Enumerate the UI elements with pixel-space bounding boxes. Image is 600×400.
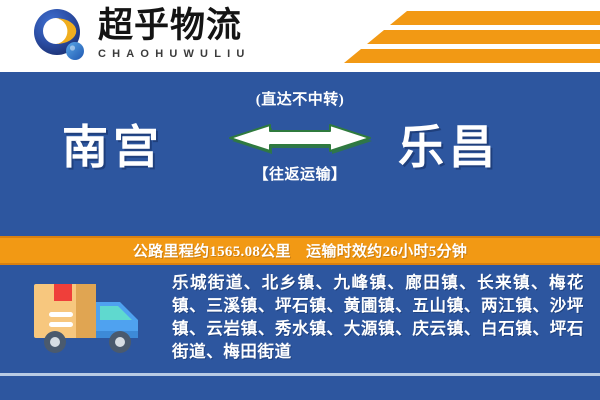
stripe-2 [367,30,600,44]
brand-name-cn: 超乎物流 [98,6,308,46]
distance-and-duration-text: 公路里程约1565.08公里 运输时效约26小时5分钟 [133,240,467,261]
company-logo-icon [32,8,90,66]
route-info-bar: 公路里程约1565.08公里 运输时效约26小时5分钟 [0,236,600,265]
route-middle: (直达不中转) 【往返运输】 [225,90,375,185]
brand-name-en: CHAOHUWULIU [98,47,308,61]
destination-city: 乐昌 [398,120,500,176]
banner-header: 超乎物流 CHAOHUWULIU [0,0,600,72]
route-panel: 南宫 (直达不中转) 【往返运输】 乐昌 [0,72,600,236]
origin-city: 南宫 [62,120,164,176]
coverage-area-list: 乐城街道、北乡镇、九峰镇、廊田镇、长来镇、梅花镇、三溪镇、坪石镇、黄圃镇、五山镇… [172,271,584,363]
logistics-route-banner: 超乎物流 CHAOHUWULIU 南宫 (直达不中转) 【往返运输】 [0,0,600,400]
stripe-1 [390,11,600,25]
coverage-section: 乐城街道、北乡镇、九峰镇、廊田镇、长来镇、梅花镇、三溪镇、坪石镇、黄圃镇、五山镇… [0,265,600,373]
banner-footer [0,376,600,400]
stripe-decoration [340,0,600,72]
bidirectional-arrow-icon [225,114,375,160]
stripe-3 [344,49,600,63]
round-trip-note: 【往返运输】 [225,165,375,185]
delivery-truck-icon [28,276,160,362]
brand-block: 超乎物流 CHAOHUWULIU [98,6,308,61]
direct-service-note: (直达不中转) [225,90,375,110]
